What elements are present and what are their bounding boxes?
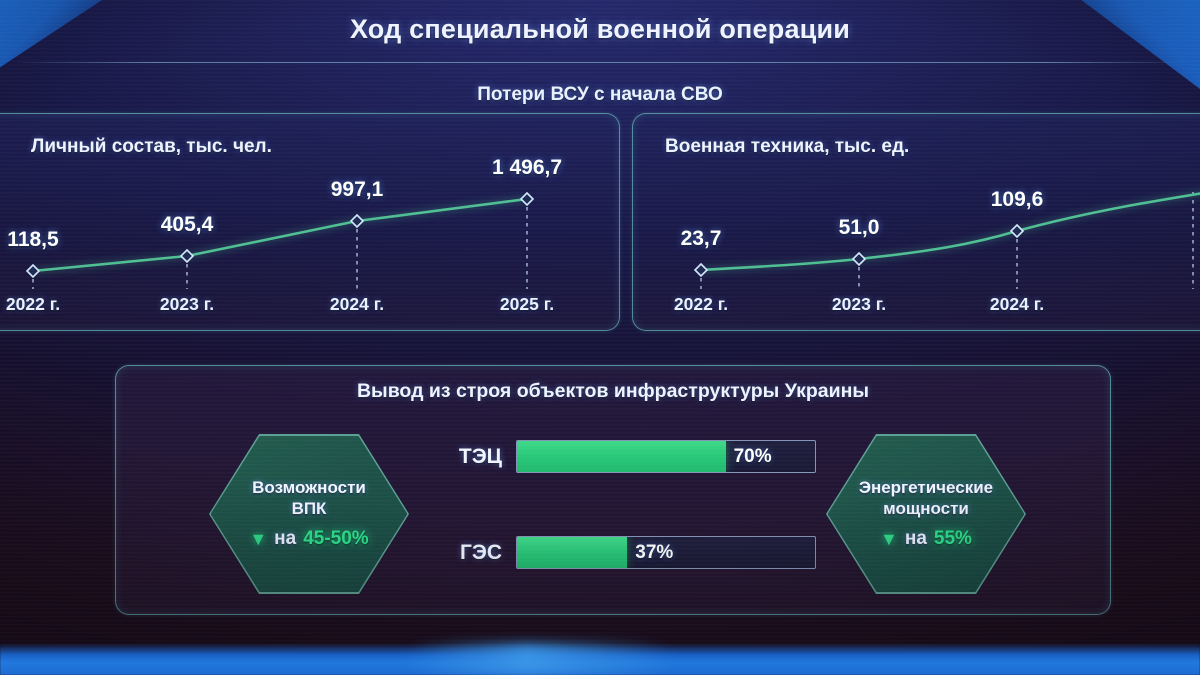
hex-energy-capacity[interactable]: Энергетические мощности ▼ на 55% [826,434,1026,594]
hex-left-label-line1: Возможности [252,478,366,498]
x-tick-equipment-2022: 2022 г. [674,294,728,315]
progress-fill-ges [517,537,627,568]
progress-fill-tec [517,441,726,472]
section-title: Потери ВСУ с начала СВО [0,84,1200,106]
title-divider [10,62,1190,63]
progress-track-ges[interactable]: 37% [516,536,816,569]
hex-right-delta: ▼ на 55% [880,528,972,550]
x-tick-personnel-2025: 2025 г. [500,294,554,315]
hex-left-prefix: на [274,528,296,550]
page-title: Ход специальной военной операции [0,14,1200,45]
data-label-equipment-2023: 51,0 [839,216,880,240]
bar-row-ges: ГЭС 37% [444,536,816,569]
x-tick-personnel-2022: 2022 г. [6,294,60,315]
presentation-screen: Ход специальной военной операции Потери … [0,0,1200,675]
hex-right-prefix: на [905,528,927,550]
hex-left-value: 45-50% [303,528,369,550]
hex-left-delta: ▼ на 45-50% [249,528,368,550]
data-label-equipment-2024: 109,6 [991,188,1044,212]
bar-row-tec: ТЭЦ 70% [444,440,816,473]
x-tick-equipment-2023: 2023 г. [832,294,886,315]
stage-glow-bottom [0,643,1200,675]
x-tick-personnel-2024: 2024 г. [330,294,384,315]
panel-infrastructure: Вывод из строя объектов инфраструктуры У… [115,365,1111,615]
bar-label-ges: ГЭС [444,541,502,565]
bar-label-tec: ТЭЦ [444,445,502,469]
arrow-down-icon: ▼ [880,530,898,548]
line-chart-personnel: 118,5 405,4 997,1 1 496,7 2022 г. 2023 г… [0,114,619,330]
data-label-personnel-2023: 405,4 [161,213,214,237]
hex-right-label-line1: Энергетические [859,478,993,498]
panel-equipment-losses: Военная техника, тыс. ед. 23,7 51,0 109 [632,113,1200,331]
data-label-personnel-2024: 997,1 [331,178,384,202]
x-tick-personnel-2023: 2023 г. [160,294,214,315]
hex-defense-industry[interactable]: Возможности ВПК ▼ на 45-50% [209,434,409,594]
arrow-down-icon: ▼ [249,530,267,548]
data-label-equipment-2022: 23,7 [681,227,722,251]
progress-track-tec[interactable]: 70% [516,440,816,473]
infrastructure-title: Вывод из строя объектов инфраструктуры У… [116,380,1110,403]
line-chart-equipment: 23,7 51,0 109,6 2 2022 г. 2023 г. 2024 г… [633,114,1200,330]
progress-value-ges: 37% [635,537,673,568]
hex-right-label-line2: мощности [883,499,969,519]
panel-personnel-losses: Личный состав, тыс. чел. [0,113,620,331]
data-label-personnel-2025: 1 496,7 [492,156,562,180]
data-label-personnel-2022: 118,5 [7,228,58,252]
hex-left-label-line2: ВПК [292,499,327,519]
progress-value-tec: 70% [734,441,772,472]
hex-right-value: 55% [934,528,972,550]
x-tick-equipment-2024: 2024 г. [990,294,1044,315]
